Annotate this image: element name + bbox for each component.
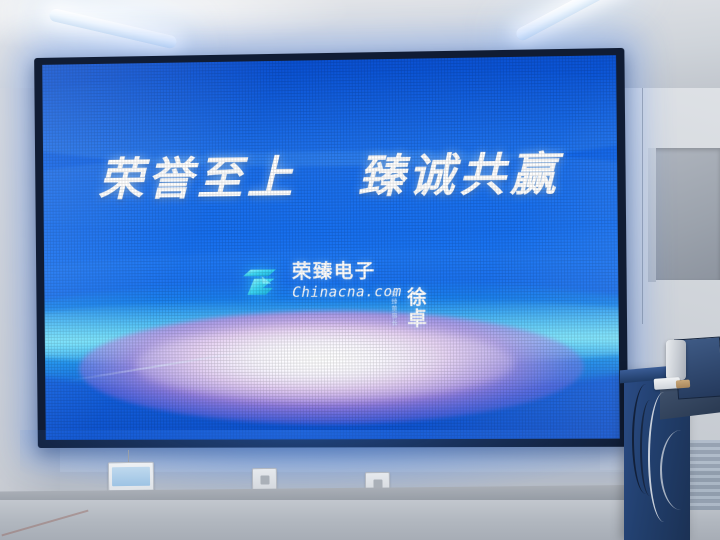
cylindrical-router — [666, 340, 686, 380]
power-adapter-secondary — [676, 380, 691, 389]
chinacna-z-arrow-mark-icon — [242, 261, 283, 302]
led-video-wall[interactable]: 荣誉至上 臻诚共赢 — [34, 48, 628, 448]
outlet-socket-icon — [260, 475, 269, 484]
floor — [0, 500, 720, 540]
cable — [640, 400, 660, 496]
logo-text-block: 荣臻电子 Chinacna.com — [292, 262, 402, 300]
logo-company-url: Chinacna.com — [292, 285, 402, 300]
headline-phrase-right: 臻诚共赢 — [358, 149, 561, 202]
cable — [660, 430, 702, 510]
headline-phrase-left: 荣誉至上 — [98, 152, 297, 205]
signature-block: 荣臻董事长 徐卓 — [389, 287, 429, 330]
signature-title: 荣臻董事长 — [389, 291, 399, 327]
slide-headline: 荣誉至上 臻诚共赢 — [43, 136, 618, 209]
ceiling-soffit — [652, 148, 720, 280]
signature-name: 徐卓 — [401, 287, 429, 330]
company-logo: 荣臻电子 Chinacna.com — [242, 260, 402, 302]
led-screen-surface[interactable]: 荣誉至上 臻诚共赢 — [42, 55, 620, 440]
soffit-face — [648, 148, 656, 282]
photo-scene: 荣誉至上 臻诚共赢 — [0, 0, 720, 540]
wall-control-panel[interactable] — [108, 462, 154, 491]
control-panel-display — [112, 467, 150, 486]
logo-company-name-cn: 荣臻电子 — [292, 262, 402, 282]
